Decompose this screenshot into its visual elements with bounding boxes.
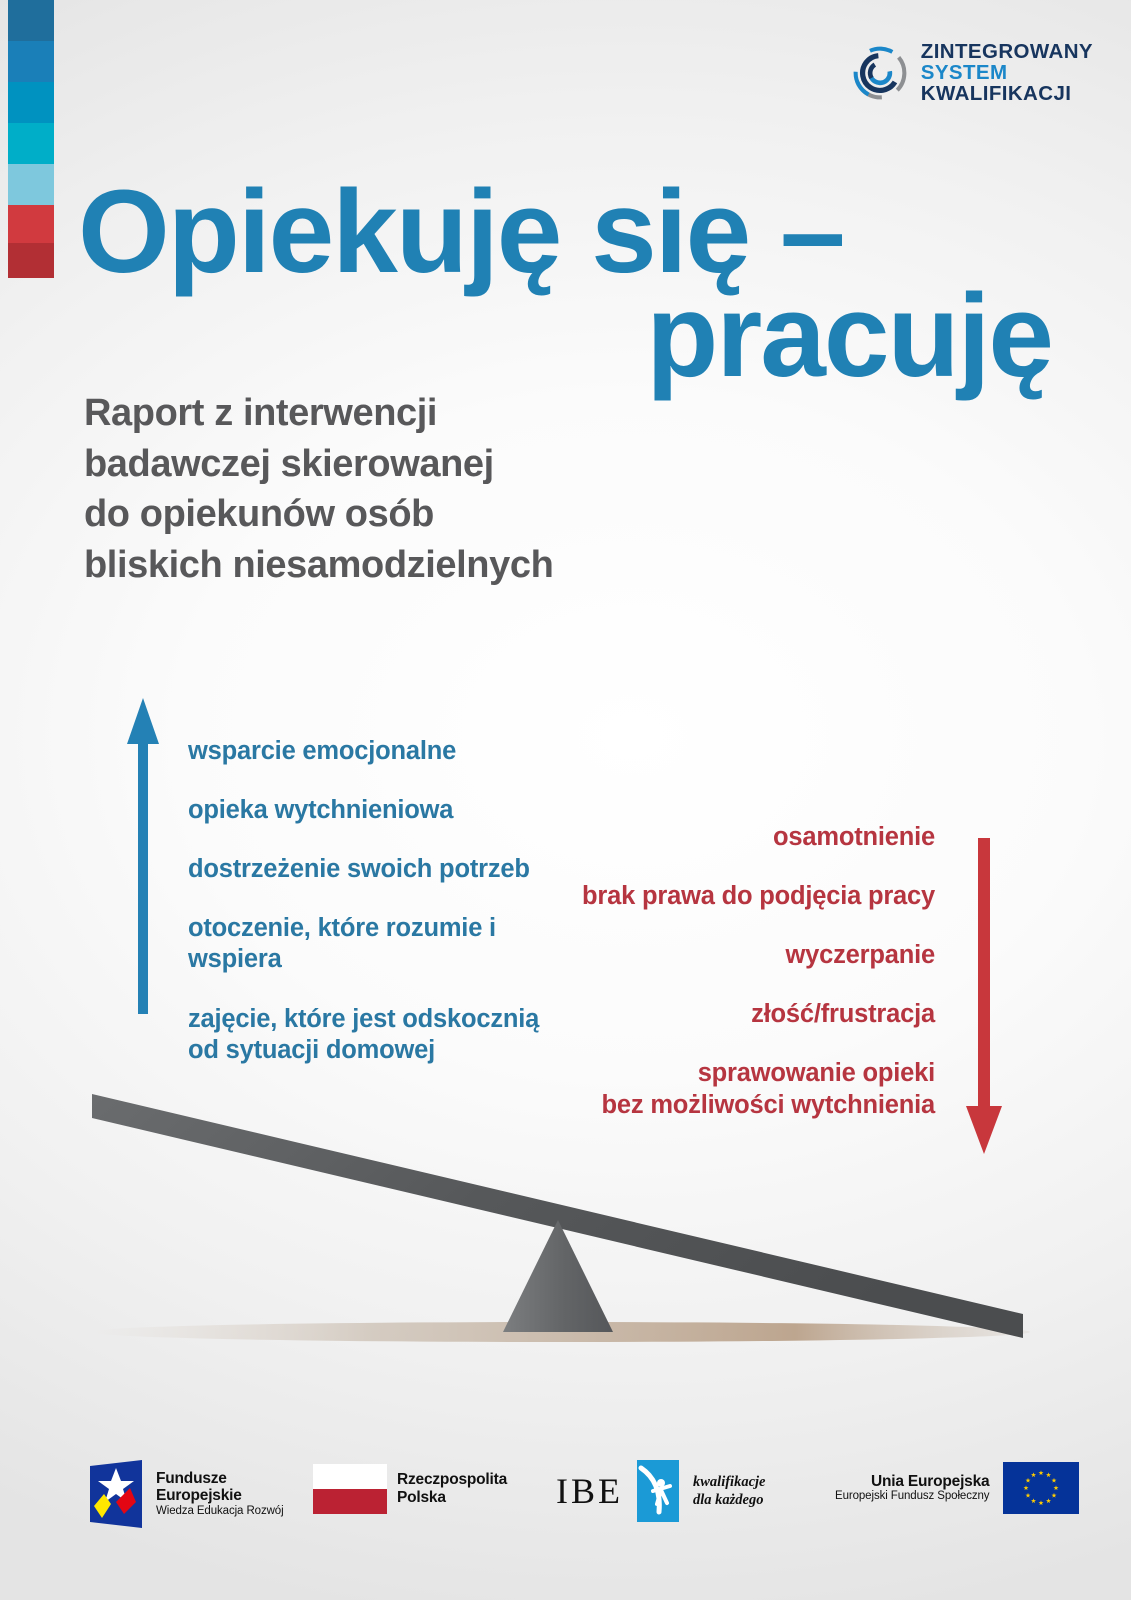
fe-line-1: Fundusze — [156, 1470, 284, 1488]
ibe-figure-icon — [637, 1460, 679, 1522]
page-title: Opiekuję się – pracuję — [78, 176, 1058, 392]
zsk-mark-icon — [851, 44, 909, 102]
ibe-tagline-line-1: kwalifikacje — [693, 1473, 766, 1491]
color-bar-segment-5 — [8, 164, 54, 205]
color-bar-segment-1 — [8, 0, 54, 41]
rp-line-2: Polska — [397, 1489, 507, 1507]
subtitle-line-3: do opiekunów osób — [84, 489, 684, 540]
zsk-wordmark: ZINTEGROWANY SYSTEM KWALIFIKACJI — [921, 42, 1093, 105]
color-bar-segment-4 — [8, 123, 54, 164]
fundusze-europejskie-mark-icon — [86, 1458, 146, 1530]
color-bar-segment-3 — [8, 82, 54, 123]
color-bar-segment-2 — [8, 41, 54, 82]
fundusze-europejskie-text: Fundusze Europejskie Wiedza Edukacja Roz… — [156, 1470, 284, 1518]
list-item: brak prawa do podjęcia pracy — [505, 881, 935, 912]
subtitle-line-2: badawczej skierowanej — [84, 439, 684, 490]
ue-line-1: Unia Europejska — [835, 1473, 989, 1491]
poster-page: ZINTEGROWANY SYSTEM KWALIFIKACJI Opiekuj… — [0, 0, 1131, 1600]
color-bar-segment-7 — [8, 243, 54, 278]
ibe-tagline: kwalifikacje dla każdego — [693, 1473, 766, 1509]
ibe-wordmark: IBE — [556, 1470, 623, 1512]
subtitle-line-1: Raport z interwencji — [84, 388, 684, 439]
unia-europejska-logo: Unia Europejska Europejski Fundusz Społe… — [835, 1462, 1079, 1514]
rp-line-1: Rzeczpospolita — [397, 1471, 507, 1489]
rzeczpospolita-polska-text: Rzeczpospolita Polska — [397, 1471, 507, 1508]
list-item: osamotnienie — [505, 822, 935, 853]
list-item: wyczerpanie — [505, 940, 935, 971]
arrow-up-icon — [126, 698, 160, 1014]
left-color-bar — [8, 0, 54, 278]
poland-flag-icon — [313, 1464, 387, 1514]
ibe-tagline-line-2: dla każdego — [693, 1491, 766, 1509]
unia-europejska-text: Unia Europejska Europejski Fundusz Społe… — [835, 1473, 989, 1504]
fundusze-europejskie-logo: Fundusze Europejskie Wiedza Edukacja Roz… — [86, 1458, 284, 1530]
fe-line-3: Wiedza Edukacja Rozwój — [156, 1505, 284, 1518]
list-item: wsparcie emocjonalne — [188, 736, 588, 767]
fe-line-2: Europejskie — [156, 1487, 284, 1505]
ue-line-2: Europejski Fundusz Społeczny — [835, 1490, 989, 1503]
rzeczpospolita-polska-logo: Rzeczpospolita Polska — [313, 1464, 507, 1514]
ibe-logo: IBE kwalifikacje dla każdego — [556, 1460, 766, 1522]
color-bar-segment-6 — [8, 205, 54, 243]
list-item: złość/frustracja — [505, 999, 935, 1030]
subtitle-line-4: bliskich niesamodzielnych — [84, 540, 684, 591]
zsk-logo: ZINTEGROWANY SYSTEM KWALIFIKACJI — [851, 42, 1093, 105]
seesaw-illustration — [0, 1050, 1131, 1380]
zsk-line-2: SYSTEM — [921, 63, 1093, 84]
eu-flag-icon — [1003, 1462, 1079, 1514]
footer-logo-strip: Fundusze Europejskie Wiedza Edukacja Roz… — [0, 1450, 1131, 1536]
page-subtitle: Raport z interwencji badawczej skierowan… — [84, 388, 684, 590]
zsk-line-3: KWALIFIKACJI — [921, 84, 1093, 105]
zsk-line-1: ZINTEGROWANY — [921, 42, 1093, 63]
